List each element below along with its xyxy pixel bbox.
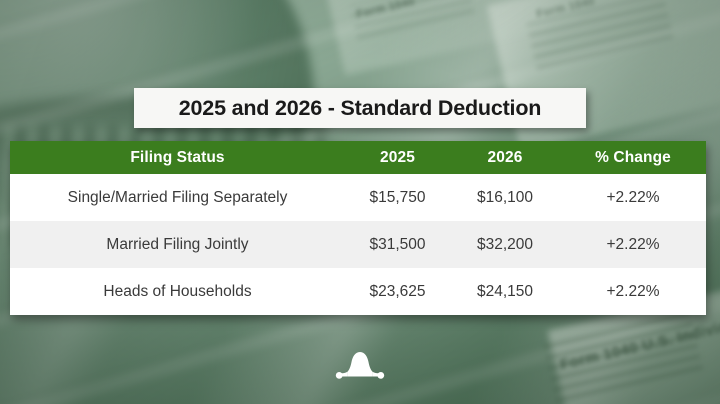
cell-2026-amount: $16,100 — [450, 189, 560, 207]
cell-percent-change: +2.22% — [560, 236, 706, 254]
column-header-filing-status: Filing Status — [10, 149, 345, 167]
cell-filing-status: Married Filing Jointly — [10, 236, 345, 254]
table-row: Married Filing Jointly $31,500 $32,200 +… — [10, 221, 706, 268]
cell-percent-change: +2.22% — [560, 283, 706, 301]
column-header-2025: 2025 — [345, 149, 450, 167]
table-row: Heads of Households $23,625 $24,150 +2.2… — [10, 268, 706, 315]
motley-fool-jester-cap-logo-icon — [334, 349, 386, 383]
cell-2025-amount: $23,625 — [345, 283, 450, 301]
cell-2025-amount: $31,500 — [345, 236, 450, 254]
standard-deduction-table: Filing Status 2025 2026 % Change Single/… — [10, 141, 706, 315]
infographic-canvas: Form 1040 U.S. Individual Income Tax Ret… — [0, 0, 720, 404]
table-row: Single/Married Filing Separately $15,750… — [10, 174, 706, 221]
cell-filing-status: Heads of Households — [10, 283, 345, 301]
page-title: 2025 and 2026 - Standard Deduction — [179, 96, 541, 121]
cell-filing-status: Single/Married Filing Separately — [10, 189, 345, 207]
title-plaque: 2025 and 2026 - Standard Deduction — [134, 88, 586, 128]
cell-2026-amount: $24,150 — [450, 283, 560, 301]
table-header-row: Filing Status 2025 2026 % Change — [10, 141, 706, 174]
cell-percent-change: +2.22% — [560, 189, 706, 207]
column-header-percent-change: % Change — [560, 149, 706, 167]
cell-2026-amount: $32,200 — [450, 236, 560, 254]
cell-2025-amount: $15,750 — [345, 189, 450, 207]
column-header-2026: 2026 — [450, 149, 560, 167]
